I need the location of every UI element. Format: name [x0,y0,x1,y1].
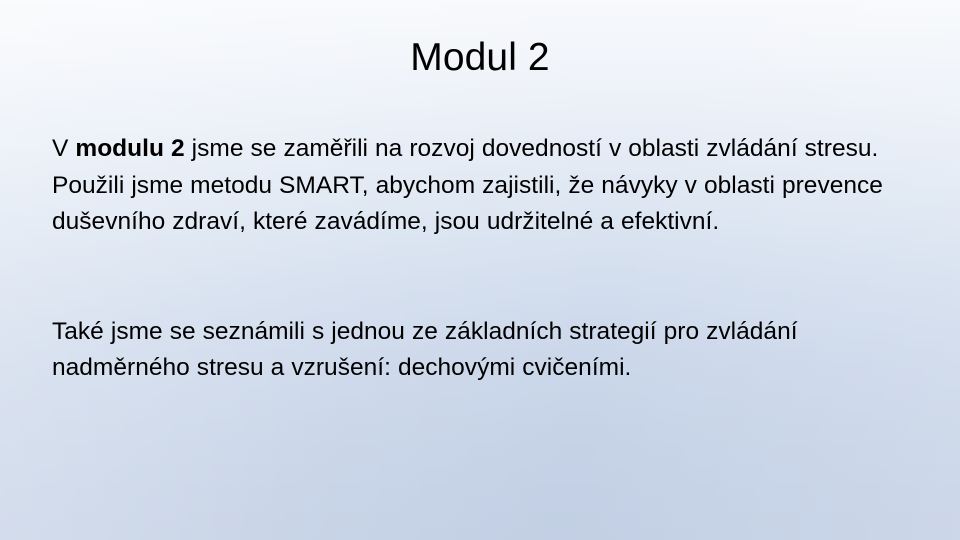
body-paragraph-1: V modulu 2 jsme se zaměřili na rozvoj do… [52,131,914,241]
paragraph-2-run-1: Také jsme se seznámili s jednou ze zákla… [52,318,798,382]
slide-title-placeholder: Modul 2 [0,36,960,80]
body-paragraph-2: Také jsme se seznámili s jednou ze zákla… [52,314,914,387]
paragraph-1-run-2-bold: modulu 2 [75,135,184,162]
slide-title: Modul 2 [410,36,549,80]
paragraph-1-run-1: V [52,135,75,162]
presentation-slide: Modul 2 V modulu 2 jsme se zaměřili na r… [0,0,960,540]
slide-body-placeholder: V modulu 2 jsme se zaměřili na rozvoj do… [52,131,914,387]
